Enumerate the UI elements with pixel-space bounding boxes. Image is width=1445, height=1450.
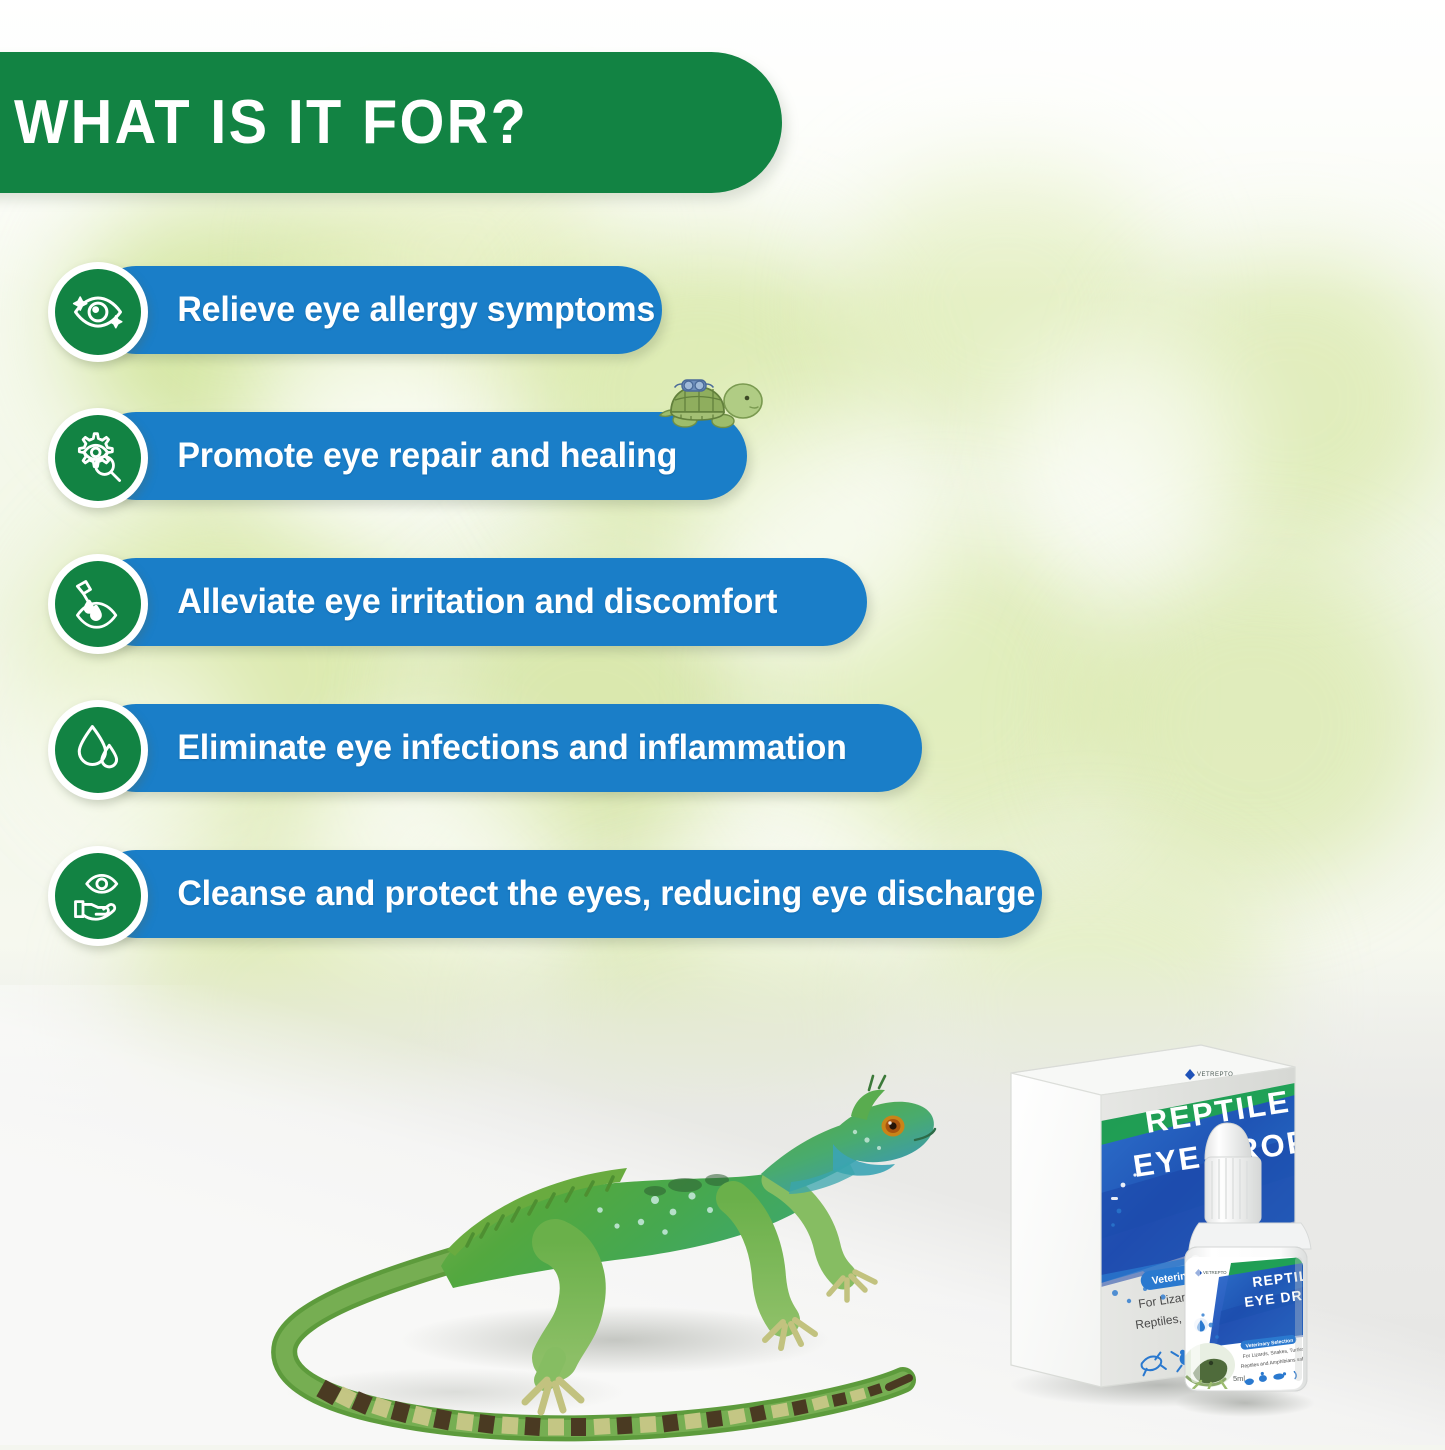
feature-row: Promote eye repair and healing: [0, 408, 1100, 504]
eye-sparkle-icon: [55, 269, 141, 355]
feature-row: Cleanse and protect the eyes, reducing e…: [0, 846, 1100, 942]
feature-label: Promote eye repair and healing: [92, 436, 716, 476]
feature-row: Eliminate eye infections and inflammatio…: [0, 700, 1100, 796]
feature-icon-badge: [48, 846, 148, 946]
feature-pill[interactable]: Cleanse and protect the eyes, reducing e…: [92, 850, 1042, 938]
product-package: VETREPTO REPTILE EYE DROPS Veterinary Se…: [995, 1025, 1340, 1425]
feature-label: Eliminate eye infections and inflammatio…: [92, 728, 885, 768]
turtle-with-goggles-icon: [655, 368, 765, 434]
feature-row: Relieve eye allergy symptoms: [0, 262, 1100, 358]
feature-row: Alleviate eye irritation and discomfort: [0, 554, 1100, 650]
header-banner: WHAT IS IT FOR?: [0, 52, 782, 193]
feature-pill[interactable]: Eliminate eye infections and inflammatio…: [92, 704, 922, 792]
feature-icon-badge: [48, 408, 148, 508]
bokeh-blob: [1080, 560, 1430, 890]
svg-text:VETREPTO: VETREPTO: [1203, 1270, 1227, 1275]
feature-label: Relieve eye allergy symptoms: [92, 290, 694, 330]
feature-icon-badge: [48, 262, 148, 362]
green-basilisk-lizard-photo: [255, 1040, 945, 1445]
page-title: WHAT IS IT FOR?: [0, 87, 528, 158]
feature-pill[interactable]: Promote eye repair and healing: [92, 412, 747, 500]
hand-eye-protect-icon: [55, 853, 141, 939]
gear-eye-magnifier-icon: [55, 415, 141, 501]
feature-pill[interactable]: Alleviate eye irritation and discomfort: [92, 558, 867, 646]
feature-list: Relieve eye allergy symptoms Promote eye…: [0, 262, 1100, 992]
feature-label: Alleviate eye irritation and discomfort: [92, 582, 816, 622]
feature-label: Cleanse and protect the eyes, reducing e…: [92, 874, 1074, 914]
bottle-volume: 5ml: [1233, 1374, 1245, 1383]
water-droplet-icon: [55, 707, 141, 793]
feature-icon-badge: [48, 554, 148, 654]
feature-icon-badge: [48, 700, 148, 800]
feature-pill[interactable]: Relieve eye allergy symptoms: [92, 266, 662, 354]
dropper-eye-icon: [55, 561, 141, 647]
